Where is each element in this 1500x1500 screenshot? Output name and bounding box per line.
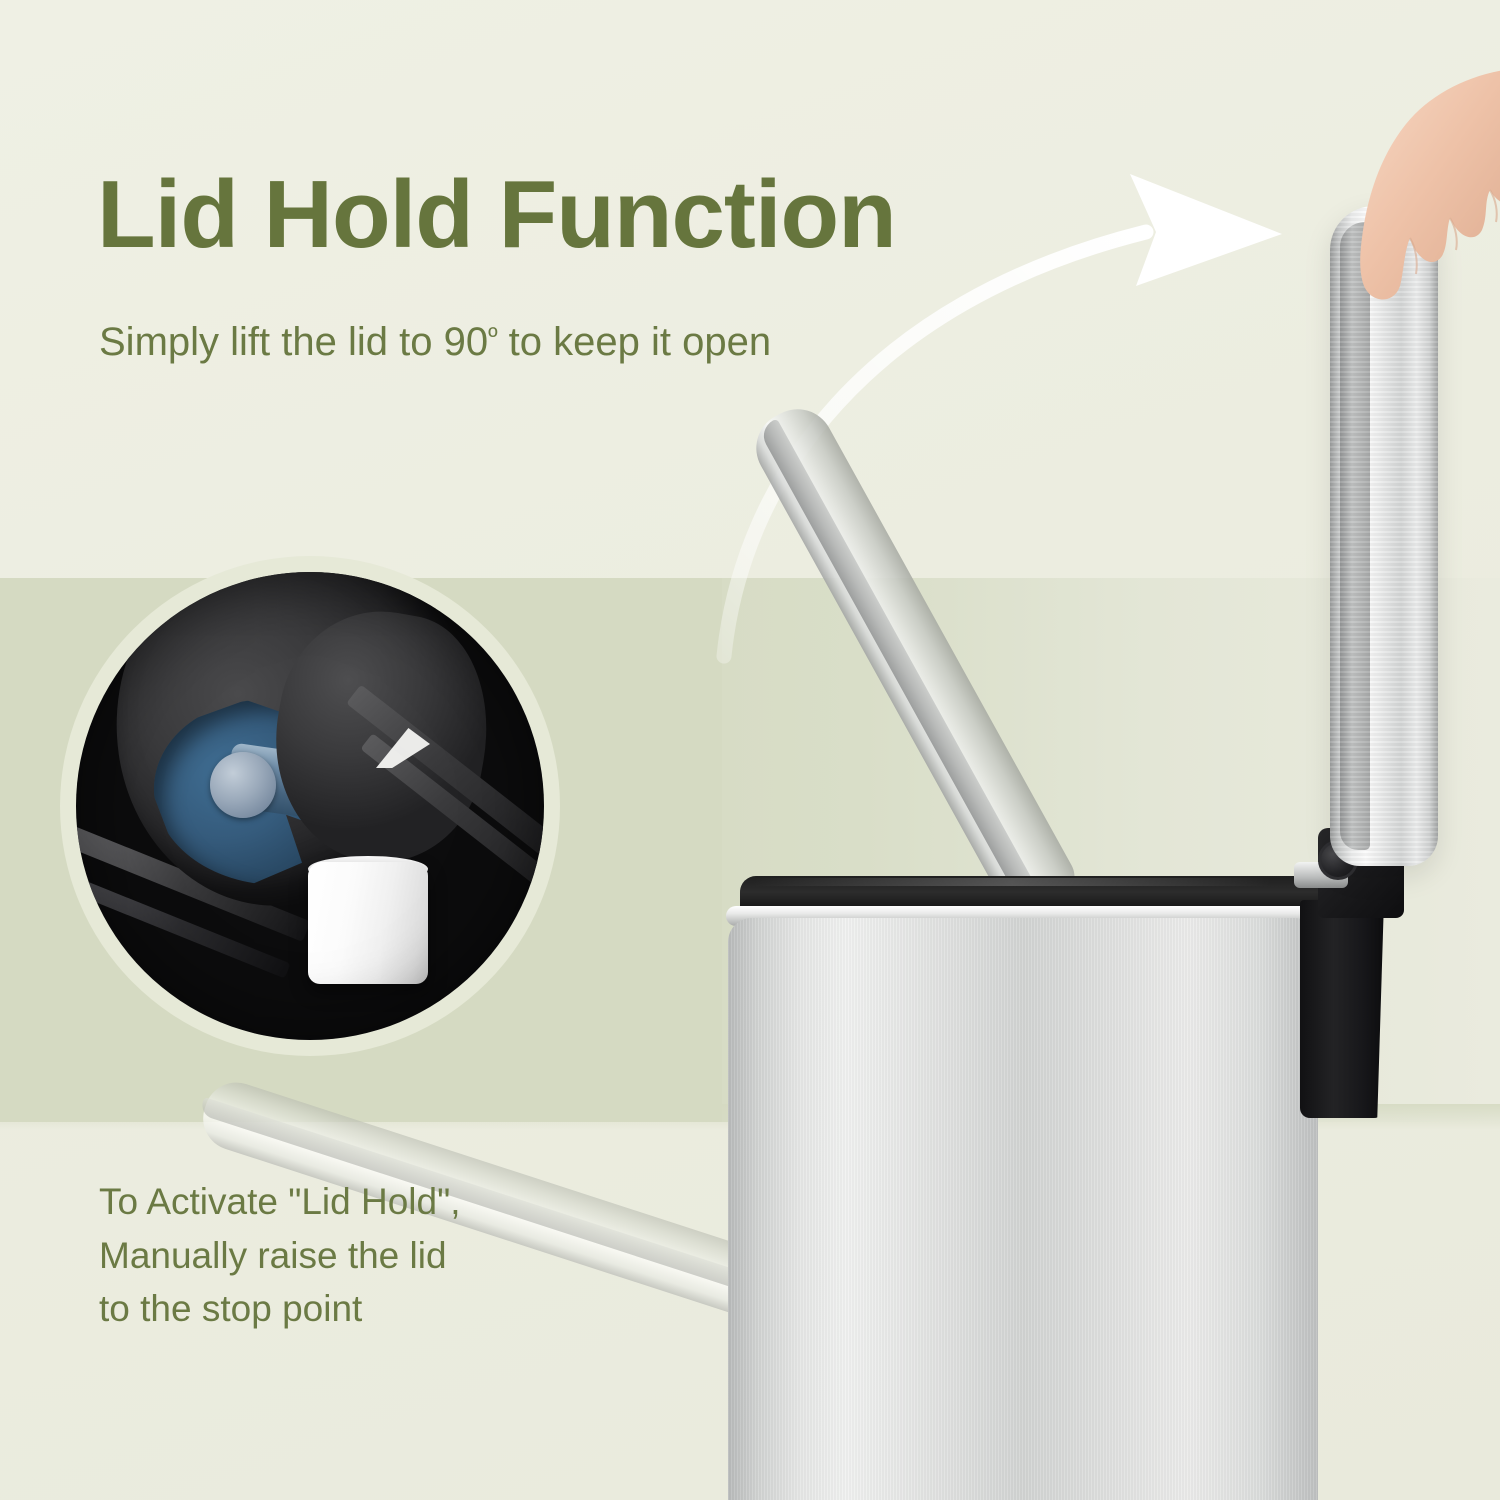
instruction-line-2: Manually raise the lid <box>99 1229 461 1283</box>
subtitle-text-after: to keep it open <box>498 320 772 364</box>
subtitle-text-before: Simply lift the lid to 90 <box>99 320 488 364</box>
product-feature-infographic: Lid Hold Function Simply lift the lid to… <box>0 0 1500 1500</box>
trash-can-body <box>728 918 1318 1500</box>
page-title: Lid Hold Function <box>97 167 896 263</box>
instruction-line-3: to the stop point <box>99 1282 461 1336</box>
page-subtitle: Simply lift the lid to 90º to keep it op… <box>99 318 771 366</box>
inset-photo <box>76 572 544 1040</box>
lid-open-inner-edge <box>1340 222 1370 850</box>
brushed-steel-texture <box>728 918 1318 1500</box>
hand-lifting-lid <box>1324 62 1500 312</box>
inset-pivot-pin-cap <box>210 752 276 818</box>
instruction-line-1: To Activate "Lid Hold", <box>99 1175 461 1229</box>
degree-symbol: º <box>488 321 498 351</box>
hinge-closeup-inset <box>60 556 560 1056</box>
inset-stop-point <box>308 862 428 984</box>
hinge-bracket <box>1300 900 1384 1118</box>
activation-instructions: To Activate "Lid Hold", Manually raise t… <box>99 1175 461 1336</box>
trash-can-liner-highlight <box>752 878 1272 886</box>
